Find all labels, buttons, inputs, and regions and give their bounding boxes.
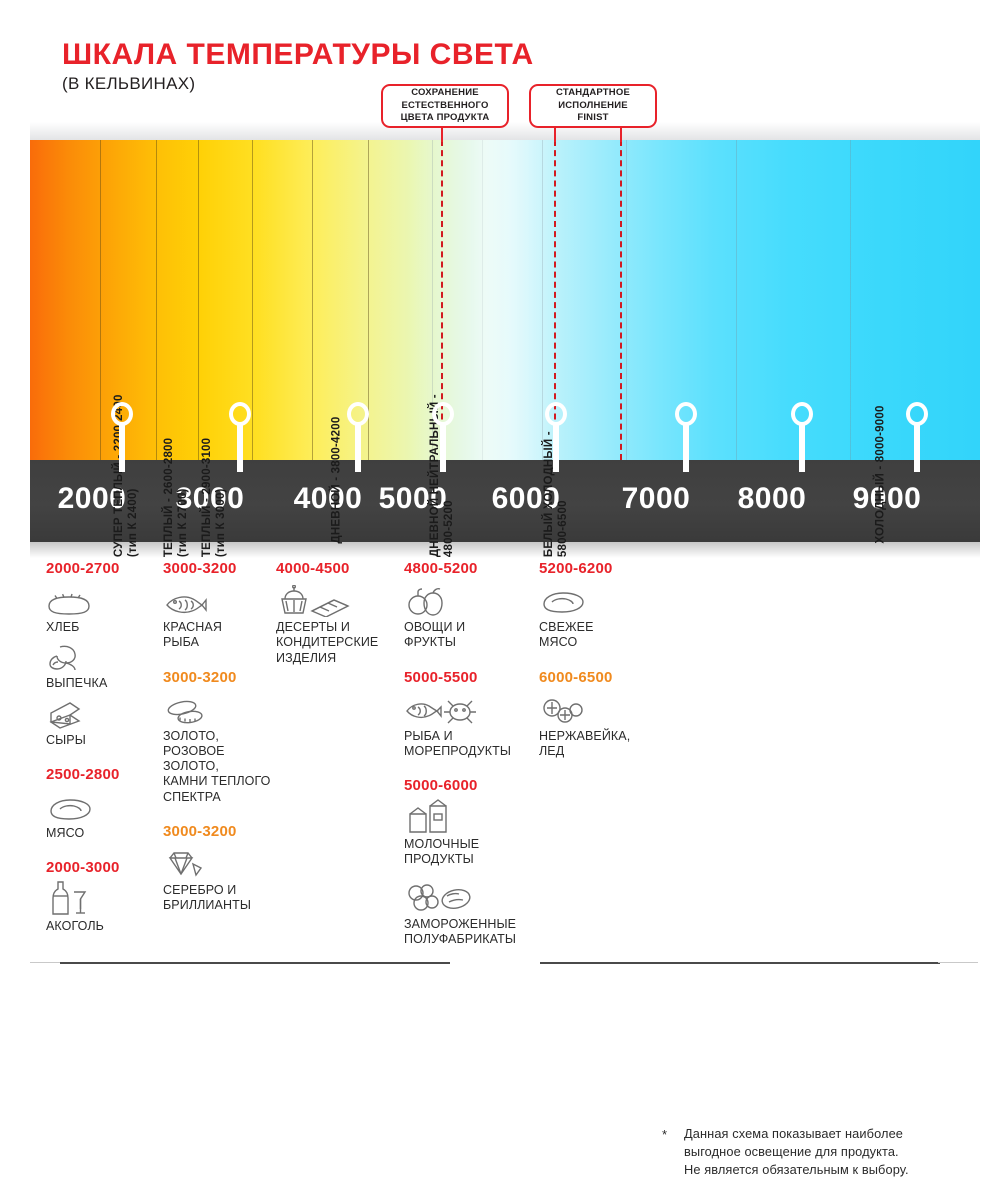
legend: 2000-2700 ХЛЕБ	[0, 560, 1000, 960]
band-divider	[850, 140, 851, 460]
marker-stem	[799, 424, 805, 472]
legend-caption: ОВОЩИ И ФРУКТЫ	[404, 620, 534, 651]
band-divider	[312, 140, 313, 460]
band-label-warm-2700-line1: ТЕПЛЫЙ - 2600-2800	[163, 438, 177, 557]
marker-stem	[119, 424, 125, 472]
legend-item-diamond: СЕРЕБРО И БРИЛЛИАНТЫ	[163, 846, 278, 914]
legend-caption: ДЕСЕРТЫ И КОНДИТЕРСКИЕ ИЗДЕЛИЯ	[276, 620, 394, 666]
dessert-icon	[276, 583, 394, 617]
callout-natural-line2: ЕСТЕСТВЕННОГО	[401, 100, 490, 113]
legend-caption: АКОГОЛЬ	[46, 919, 151, 934]
band-label-warm-2700: ТЕПЛЫЙ - 2600-2800 (тип К 2700)	[163, 438, 190, 557]
bottom-rule-left	[60, 962, 450, 964]
legend-caption: ХЛЕБ	[46, 620, 151, 635]
legend-column-5: 5200-6200 СВЕЖЕЕ МЯСО 6000-6500	[539, 560, 649, 763]
marker-stem	[355, 424, 361, 472]
footnote-star: *	[662, 1127, 667, 1142]
band-label-warm-3000-line1: ТЕПЛЫЙ - 2900-3100	[201, 438, 215, 557]
band-divider	[626, 140, 627, 460]
legend-caption: СЕРЕБРО И БРИЛЛИАНТЫ	[163, 883, 278, 914]
band-divider	[156, 140, 157, 460]
meat-icon	[46, 789, 151, 823]
legend-range: 5000-5500	[404, 669, 534, 686]
gradient-fill	[30, 140, 980, 460]
temperature-gradient-bar: СУПЕР ТЕПЛЫЙ - 2200-2400 (тип К 2400) ТЕ…	[30, 140, 980, 460]
callout-natural-line3: ЦВЕТА ПРОДУКТА	[401, 112, 490, 125]
legend-column-2: 3000-3200 КРАСНАЯ РЫБА 3000-3200	[163, 560, 278, 917]
legend-range: 6000-6500	[539, 669, 649, 686]
marker-ring-icon	[906, 402, 928, 426]
legend-item-ice: НЕРЖАВЕЙКА, ЛЕД	[539, 692, 649, 760]
legend-column-3: 4000-4500 ДЕСЕРТЫ И КОНДИТЕРСКИЕ ИЗДЕЛИЯ	[276, 560, 394, 670]
band-divider	[198, 140, 199, 460]
marker-stem	[683, 424, 689, 472]
legend-caption: ЗАМОРОЖЕННЫЕ ПОЛУФАБРИКАТЫ	[404, 917, 534, 948]
legend-column-1: 2000-2700 ХЛЕБ	[46, 560, 151, 938]
legend-caption: СВЕЖЕЕ МЯСО	[539, 620, 649, 651]
marker-stem	[914, 424, 920, 472]
spacer	[163, 655, 278, 669]
band-divider	[542, 140, 543, 460]
callout-finist-line1: СТАНДАРТНОЕ	[556, 87, 630, 100]
callout-finist-standard: СТАНДАРТНОЕ ИСПОЛНЕНИЕ FINIST	[529, 84, 657, 128]
callout-leg-finist-right	[620, 128, 622, 142]
scale-tick-8000: 8000	[712, 482, 832, 516]
footnote: * Данная схема показывает наиболее выгод…	[662, 1125, 982, 1179]
scale-tick-7000: 7000	[596, 482, 716, 516]
legend-item-cheese: СЫРЫ	[46, 696, 151, 748]
spacer	[46, 752, 151, 766]
alcohol-icon	[46, 882, 151, 916]
marker-ring-icon	[791, 402, 813, 426]
legend-range: 3000-3200	[163, 669, 278, 686]
bread-icon	[46, 583, 151, 617]
legend-caption: СЫРЫ	[46, 733, 151, 748]
cheese-icon	[46, 696, 151, 730]
legend-range: 5200-6200	[539, 560, 649, 577]
band-label-cold-line1: ХОЛОДНЫЙ - 8000-9000	[874, 405, 888, 543]
reference-line-finist-right	[620, 140, 622, 460]
callout-finist-line2: ИСПОЛНЕНИЕ	[556, 100, 630, 113]
band-divider	[100, 140, 101, 460]
frozen-icon	[404, 880, 534, 914]
band-label-warm-3000-line2: (тип К 3000)	[214, 438, 228, 557]
legend-item-red-fish: КРАСНАЯ РЫБА	[163, 583, 278, 651]
callout-natural-color: СОХРАНЕНИЕ ЕСТЕСТВЕННОГО ЦВЕТА ПРОДУКТА	[381, 84, 509, 128]
spacer	[404, 655, 534, 669]
legend-item-vegetables: ОВОЩИ И ФРУКТЫ	[404, 583, 534, 651]
band-label-warm-3000: ТЕПЛЫЙ - 2900-3100 (тип К 3000)	[201, 438, 228, 557]
marker-ring-icon	[545, 402, 567, 426]
legend-column-4: 4800-5200 ОВОЩИ И ФРУКТЫ 5000-5500	[404, 560, 534, 951]
legend-caption: МОЛОЧНЫЕ ПРОДУКТЫ	[404, 837, 534, 868]
legend-item-seafood: РЫБА И МОРЕПРОДУКТЫ	[404, 692, 534, 760]
fresh-meat-icon	[539, 583, 649, 617]
legend-caption: ВЫПЕЧКА	[46, 676, 151, 691]
legend-range: 5000-6000	[404, 777, 534, 794]
spacer	[539, 655, 649, 669]
ice-icon	[539, 692, 649, 726]
milk-icon	[404, 800, 534, 834]
legend-range: 3000-3200	[163, 560, 278, 577]
legend-caption: ЗОЛОТО, РОЗОВОЕ ЗОЛОТО, КАМНИ ТЕПЛОГО СП…	[163, 729, 278, 805]
legend-range: 2000-2700	[46, 560, 151, 577]
band-divider	[252, 140, 253, 460]
legend-item-bread: ХЛЕБ	[46, 583, 151, 635]
band-divider	[736, 140, 737, 460]
legend-item-desserts: ДЕСЕРТЫ И КОНДИТЕРСКИЕ ИЗДЕЛИЯ	[276, 583, 394, 666]
fruit-icon	[404, 583, 534, 617]
legend-caption: НЕРЖАВЕЙКА, ЛЕД	[539, 729, 649, 760]
diamond-icon	[163, 846, 278, 880]
legend-range: 3000-3200	[163, 823, 278, 840]
callout-finist-line3: FINIST	[556, 112, 630, 125]
spacer	[46, 845, 151, 859]
callout-natural-line1: СОХРАНЕНИЕ	[401, 87, 490, 100]
marker-ring-icon	[111, 402, 133, 426]
rings-icon	[163, 692, 278, 726]
footnote-text: Данная схема показывает наиболее выгодно…	[684, 1125, 982, 1179]
legend-item-pastry: ВЫПЕЧКА	[46, 639, 151, 691]
marker-stem	[553, 424, 559, 472]
spacer	[163, 809, 278, 823]
band-label-daylight-line1: ДНЕВНОЙ - 3800-4200	[330, 417, 344, 544]
legend-range: 2000-3000	[46, 859, 151, 876]
legend-item-dairy: МОЛОЧНЫЕ ПРОДУКТЫ	[404, 800, 534, 868]
spacer	[404, 872, 534, 880]
legend-caption: МЯСО	[46, 826, 151, 841]
bottom-rule-right	[540, 962, 940, 964]
legend-range: 4800-5200	[404, 560, 534, 577]
marker-ring-icon	[432, 402, 454, 426]
bottom-rule-left-fade	[30, 962, 62, 963]
legend-item-frozen: ЗАМОРОЖЕННЫЕ ПОЛУФАБРИКАТЫ	[404, 880, 534, 948]
page-subtitle: (В КЕЛЬВИНАХ)	[62, 74, 195, 94]
legend-item-meat: МЯСО	[46, 789, 151, 841]
marker-ring-icon	[229, 402, 251, 426]
legend-caption: КРАСНАЯ РЫБА	[163, 620, 278, 651]
callout-leg-natural	[441, 128, 443, 142]
page-title: ШКАЛА ТЕМПЕРАТУРЫ СВЕТА	[62, 38, 534, 72]
callout-leg-finist-left	[554, 128, 556, 142]
legend-range: 4000-4500	[276, 560, 394, 577]
band-label-daylight: ДНЕВНОЙ - 3800-4200	[330, 417, 344, 544]
band-divider	[482, 140, 483, 460]
legend-item-alcohol: АКОГОЛЬ	[46, 882, 151, 934]
band-label-cold: ХОЛОДНЫЙ - 8000-9000	[874, 405, 888, 543]
marker-ring-icon	[675, 402, 697, 426]
fish-icon	[163, 583, 278, 617]
marker-stem	[440, 424, 446, 472]
band-label-warm-2700-line2: (тип К 2700)	[176, 438, 190, 557]
croissant-icon	[46, 639, 151, 673]
legend-caption: РЫБА И МОРЕПРОДУКТЫ	[404, 729, 534, 760]
legend-item-fresh-meat: СВЕЖЕЕ МЯСО	[539, 583, 649, 651]
seafood-icon	[404, 692, 534, 726]
marker-stem	[237, 424, 243, 472]
marker-ring-icon	[347, 402, 369, 426]
legend-range: 2500-2800	[46, 766, 151, 783]
spacer	[404, 763, 534, 777]
legend-item-gold: ЗОЛОТО, РОЗОВОЕ ЗОЛОТО, КАМНИ ТЕПЛОГО СП…	[163, 692, 278, 805]
bottom-rule-right-fade	[938, 962, 978, 963]
